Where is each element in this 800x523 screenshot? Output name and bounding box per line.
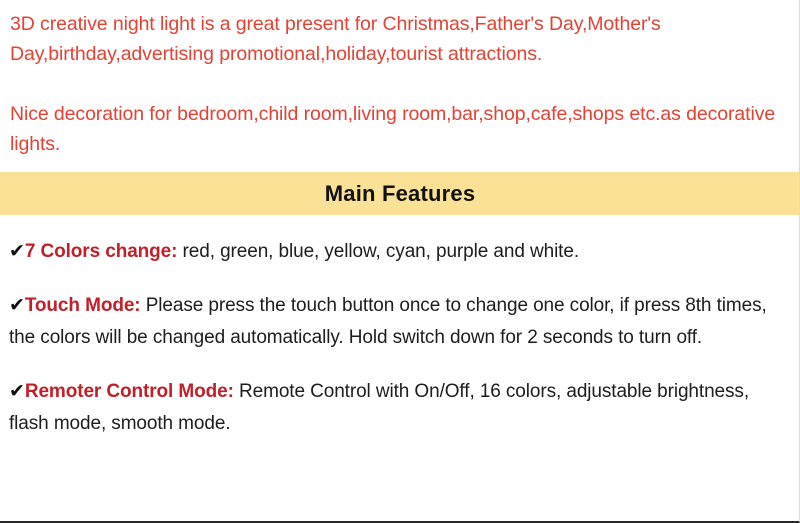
feature-item-colors: ✔7 Colors change: red, green, blue, yell… (9, 215, 791, 268)
intro-paragraph-decoration: Nice decoration for bedroom,child room,l… (10, 69, 789, 159)
features-list: ✔7 Colors change: red, green, blue, yell… (0, 215, 800, 440)
main-features-title: Main Features (325, 181, 476, 207)
check-icon: ✔ (9, 295, 25, 316)
product-description-panel: 3D creative night light is a great prese… (0, 0, 800, 523)
feature-label: Remoter Control Mode: (25, 381, 234, 402)
feature-description: red, green, blue, yellow, cyan, purple a… (177, 241, 579, 262)
feature-item-remote-control-mode: ✔Remoter Control Mode: Remote Control wi… (9, 354, 791, 440)
feature-label: Touch Mode: (25, 295, 141, 316)
feature-label: 7 Colors change: (25, 241, 178, 262)
check-icon: ✔ (9, 381, 25, 402)
feature-item-touch-mode: ✔Touch Mode: Please press the touch butt… (9, 268, 791, 354)
check-icon: ✔ (9, 241, 25, 262)
main-features-banner: Main Features (0, 172, 800, 215)
intro-paragraph-occasions: 3D creative night light is a great prese… (10, 0, 789, 69)
intro-section: 3D creative night light is a great prese… (0, 0, 799, 159)
